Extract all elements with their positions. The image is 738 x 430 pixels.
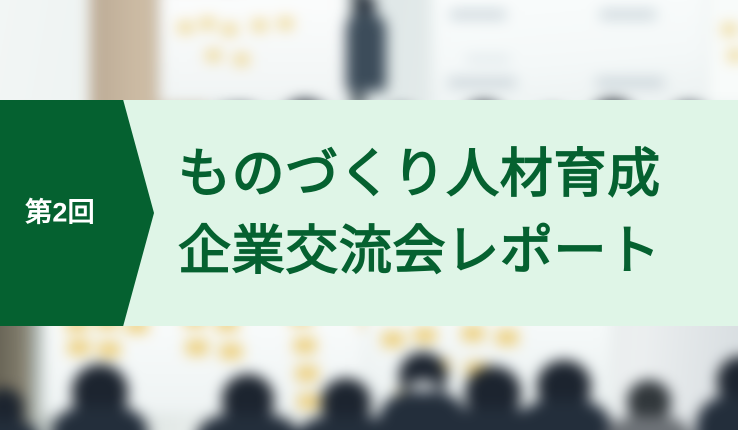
participant-pointing (196, 374, 300, 430)
title-line-2: 企業交流会レポート (178, 213, 661, 290)
presenter (346, 0, 386, 90)
participant (696, 356, 738, 430)
participant (0, 388, 40, 430)
whiteboard (158, 0, 348, 102)
participant (516, 360, 612, 430)
banner-band: 第2回 ものづくり人材育成 企業交流会レポート (0, 100, 738, 326)
projector-screen (430, 0, 730, 102)
banner-graphic: 第2回 ものづくり人材育成 企業交流会レポート (0, 0, 738, 430)
banner-title: ものづくり人材育成 企業交流会レポート (178, 136, 661, 291)
participant (52, 364, 148, 430)
top-photo (0, 0, 738, 102)
participant (606, 380, 692, 430)
edition-badge-label: 第2回 (0, 200, 120, 227)
bottom-photo (0, 324, 738, 430)
flip-chart (706, 0, 738, 102)
title-line-1: ものづくり人材育成 (178, 136, 661, 213)
edition-badge: 第2回 (0, 100, 154, 326)
